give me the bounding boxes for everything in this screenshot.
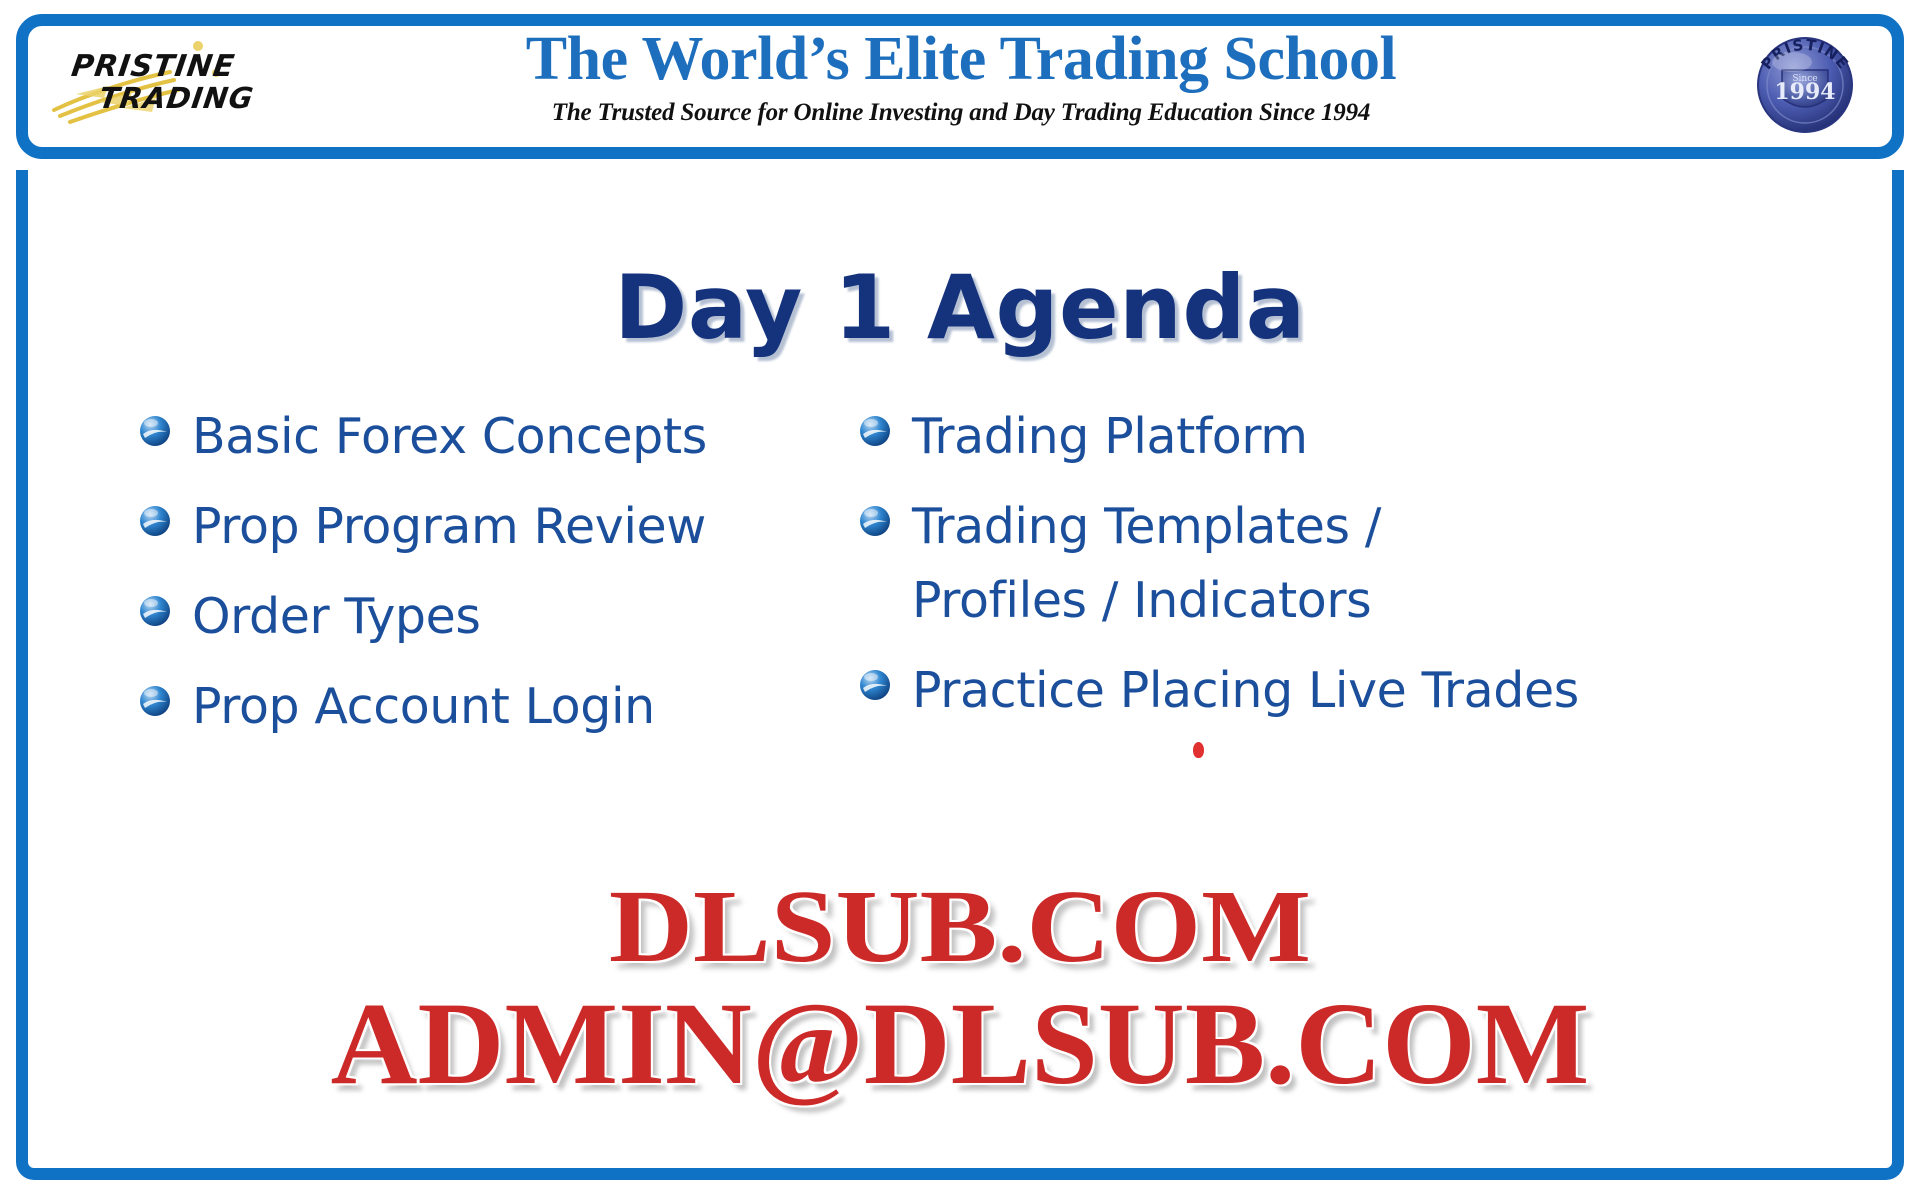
agenda-columns: Basic Forex Concepts Prop Program Review bbox=[28, 400, 1892, 760]
list-item[interactable]: Basic Forex Concepts bbox=[138, 400, 818, 474]
red-dot-marker bbox=[1193, 742, 1204, 758]
left-column: Basic Forex Concepts Prop Program Review bbox=[28, 400, 818, 760]
header-text-block: The World’s Elite Trading School The Tru… bbox=[316, 20, 1606, 128]
list-item-label: Prop Program Review bbox=[192, 490, 706, 564]
list-item[interactable]: Practice Placing Live Trades bbox=[858, 654, 1838, 728]
right-column: Trading Platform Trading Templates / Pro… bbox=[818, 400, 1838, 760]
slide-header: PRISTINE TRADING The World’s Elite Tradi… bbox=[16, 14, 1904, 159]
svg-text:TRADING: TRADING bbox=[97, 81, 256, 115]
list-item-label: Trading Templates / Profiles / Indicator… bbox=[912, 490, 1381, 638]
watermark-email: ADMIN@DLSUB.COM bbox=[28, 982, 1892, 1106]
watermark-email-label: ADMIN@DLSUB.COM bbox=[331, 982, 1590, 1106]
blue-globe-bullet-icon bbox=[138, 414, 172, 448]
agenda-title: Day 1 Agenda bbox=[28, 260, 1892, 356]
list-item-label: Practice Placing Live Trades bbox=[912, 654, 1579, 728]
svg-text:PRISTINE: PRISTINE bbox=[69, 49, 237, 84]
pristine-since-1994-seal: PRISTINE Since 1994 bbox=[1746, 26, 1864, 144]
blue-globe-bullet-icon bbox=[138, 684, 172, 718]
pristine-trading-logo: PRISTINE TRADING bbox=[46, 36, 276, 126]
list-item[interactable]: Trading Platform bbox=[858, 400, 1838, 474]
blue-globe-bullet-icon bbox=[138, 504, 172, 538]
blue-globe-bullet-icon bbox=[858, 668, 892, 702]
list-item[interactable]: Order Types bbox=[138, 580, 818, 654]
list-item-label: Order Types bbox=[192, 580, 481, 654]
blue-globe-bullet-icon bbox=[138, 594, 172, 628]
list-item[interactable]: Trading Templates / Profiles / Indicator… bbox=[858, 490, 1838, 638]
watermark-site: DLSUB.COM bbox=[28, 872, 1892, 982]
watermark-site-label: DLSUB.COM bbox=[609, 872, 1311, 982]
slide-root: PRISTINE TRADING The World’s Elite Tradi… bbox=[0, 0, 1920, 1193]
list-item[interactable]: Prop Program Review bbox=[138, 490, 818, 564]
page-title: The World’s Elite Trading School bbox=[316, 20, 1606, 98]
svg-text:1994: 1994 bbox=[1774, 79, 1835, 105]
list-item-label: Trading Platform bbox=[912, 400, 1308, 474]
list-item[interactable]: Prop Account Login bbox=[138, 670, 818, 744]
blue-globe-bullet-icon bbox=[858, 504, 892, 538]
blue-globe-bullet-icon bbox=[858, 414, 892, 448]
list-item-label: Prop Account Login bbox=[192, 670, 655, 744]
list-item-label: Basic Forex Concepts bbox=[192, 400, 707, 474]
slide-body: Day 1 Agenda bbox=[28, 182, 1892, 1168]
header-tagline: The Trusted Source for Online Investing … bbox=[316, 98, 1606, 128]
